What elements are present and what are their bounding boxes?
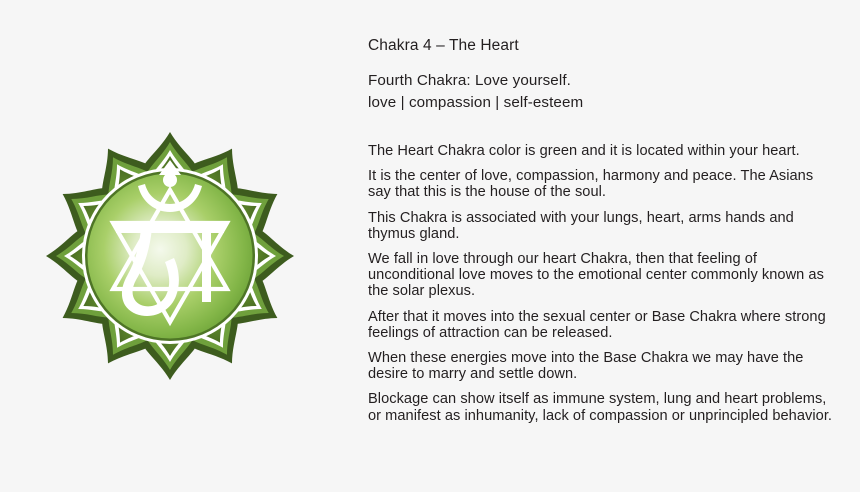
body-block: The Heart Chakra color is green and it i…	[368, 143, 836, 424]
chakra-text-column: Chakra 4 – The Heart Fourth Chakra: Love…	[368, 36, 836, 424]
body-paragraph: After that it moves into the sexual cent…	[368, 309, 836, 341]
chakra-disc	[88, 174, 253, 339]
body-paragraph: This Chakra is associated with your lung…	[368, 210, 836, 242]
body-paragraph: It is the center of love, compassion, ha…	[368, 168, 836, 200]
page-title: Chakra 4 – The Heart	[368, 36, 836, 56]
body-paragraph: The Heart Chakra color is green and it i…	[368, 143, 836, 159]
body-paragraph: We fall in love through our heart Chakra…	[368, 251, 836, 300]
body-paragraph: When these energies move into the Base C…	[368, 350, 836, 382]
header-block: Chakra 4 – The Heart Fourth Chakra: Love…	[368, 36, 836, 112]
page-root: Chakra 4 – The Heart Fourth Chakra: Love…	[0, 0, 860, 492]
chakra-subtitle: Fourth Chakra: Love yourself.	[368, 71, 836, 90]
chakra-keywords: love | compassion | self-esteem	[368, 93, 836, 112]
body-paragraph: Blockage can show itself as immune syste…	[368, 391, 836, 423]
heart-chakra-emblem	[42, 128, 298, 384]
